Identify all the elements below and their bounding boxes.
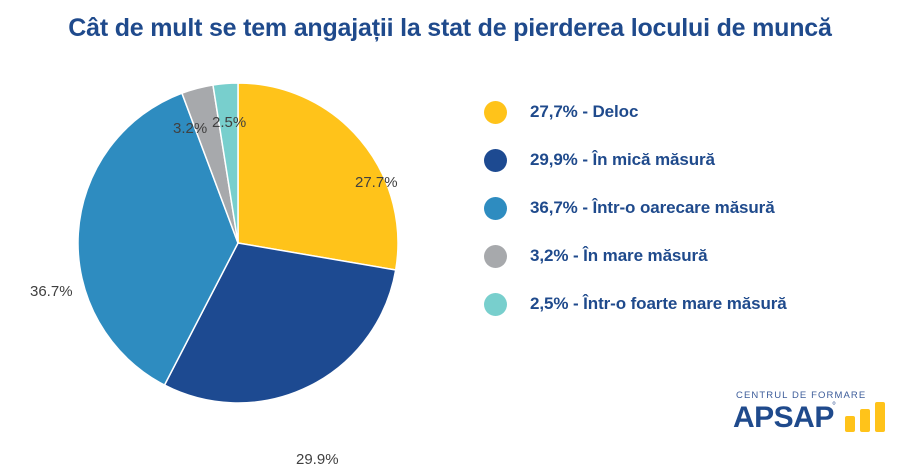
legend-color-swatch (484, 149, 507, 172)
pie-chart: 27.7% 29.9% 36.7% 3.2% 2.5% (0, 55, 470, 450)
chart-legend: 27,7% - Deloc29,9% - În mică măsură36,7%… (484, 88, 884, 328)
legend-item-label: 29,9% - În mică măsură (530, 150, 715, 170)
legend-item-label: 3,2% - În mare măsură (530, 246, 707, 266)
logo-registered-mark: ° (832, 401, 836, 412)
pie-slice-label-in-mare-masura: 3.2% (173, 120, 207, 137)
chart-canvas: Cât de mult se tem angajații la stat de … (0, 0, 900, 450)
logo-wordmark: APSAP (733, 401, 834, 435)
legend-color-swatch (484, 293, 507, 316)
logo-tagline: CENTRUL DE FORMARE (736, 390, 866, 401)
apsap-logo: CENTRUL DE FORMARE APSAP ° (733, 390, 888, 438)
legend-item-label: 2,5% - Într-o foarte mare măsură (530, 294, 787, 314)
pie-slice-label-intr-o-oarecare-masura: 36.7% (30, 283, 73, 300)
logo-bars-icon (845, 402, 887, 432)
legend-item[interactable]: 3,2% - În mare măsură (484, 232, 884, 280)
legend-item[interactable]: 29,9% - În mică măsură (484, 136, 884, 184)
legend-item[interactable]: 27,7% - Deloc (484, 88, 884, 136)
legend-color-swatch (484, 245, 507, 268)
legend-color-swatch (484, 101, 507, 124)
page-title: Cât de mult se tem angajații la stat de … (0, 14, 900, 43)
legend-item[interactable]: 2,5% - Într-o foarte mare măsură (484, 280, 884, 328)
legend-item-label: 27,7% - Deloc (530, 102, 638, 122)
legend-item[interactable]: 36,7% - Într-o oarecare măsură (484, 184, 884, 232)
legend-item-label: 36,7% - Într-o oarecare măsură (530, 198, 775, 218)
legend-color-swatch (484, 197, 507, 220)
pie-slice-label-deloc: 27.7% (355, 174, 398, 191)
pie-slice-label-intr-o-foarte-mare-masura: 2.5% (212, 114, 246, 131)
pie-slice-label-in-mica-masura: 29.9% (296, 451, 339, 468)
